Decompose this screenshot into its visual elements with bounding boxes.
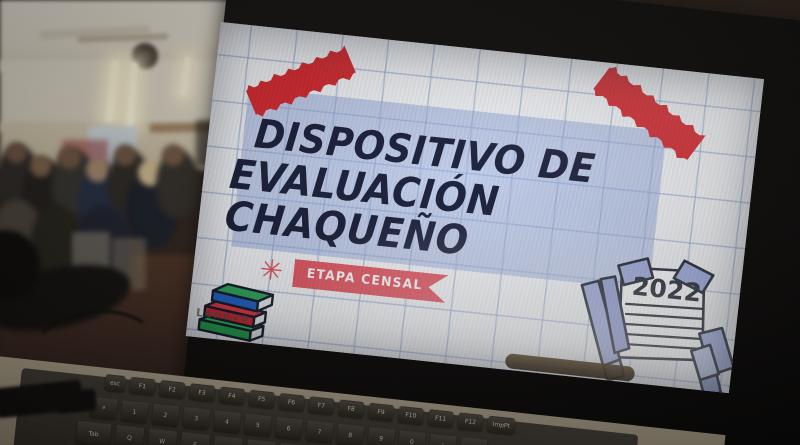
key-e[interactable]: E (180, 431, 210, 445)
photo-scene: DISPOSITIVO DE EVALUACIÓN CHAQUEÑO ✳ ETA… (0, 0, 800, 445)
key-4[interactable]: 4 (213, 409, 241, 433)
key-apostrophe[interactable]: ' (429, 433, 457, 445)
laptop-screen[interactable]: DISPOSITIVO DE EVALUACIÓN CHAQUEÑO ✳ ETA… (186, 22, 764, 393)
key-f7[interactable]: F7 (308, 396, 335, 415)
key-5[interactable]: 5 (244, 413, 272, 437)
key-f4[interactable]: F4 (219, 386, 246, 405)
key-7[interactable]: 7 (305, 419, 333, 443)
key-q[interactable]: Q (114, 424, 144, 445)
key-f5[interactable]: F5 (248, 390, 275, 409)
key-3[interactable]: 3 (182, 406, 210, 430)
key-f9[interactable]: F9 (368, 403, 395, 422)
key-f11[interactable]: F11 (427, 409, 454, 428)
key-f2[interactable]: F2 (159, 380, 186, 399)
key-6[interactable]: 6 (275, 416, 303, 440)
key-2[interactable]: 2 (151, 403, 179, 427)
key-f3[interactable]: F3 (189, 383, 216, 402)
key-8[interactable]: 8 (336, 423, 364, 445)
key-f12[interactable]: F12 (457, 412, 484, 431)
key-tab[interactable]: Tab (76, 420, 112, 445)
key-9[interactable]: 9 (367, 426, 395, 445)
key-f10[interactable]: F10 (398, 406, 425, 425)
key-1[interactable]: 1 (121, 399, 149, 423)
key-f6[interactable]: F6 (278, 393, 305, 412)
books-stack-icon (186, 260, 284, 348)
key-w[interactable]: W (147, 428, 177, 445)
key-f8[interactable]: F8 (338, 399, 365, 418)
key-0[interactable]: 0 (398, 429, 426, 445)
key-print[interactable]: ImpPt (487, 416, 516, 435)
presentation-slide: DISPOSITIVO DE EVALUACIÓN CHAQUEÑO ✳ ETA… (186, 22, 764, 393)
